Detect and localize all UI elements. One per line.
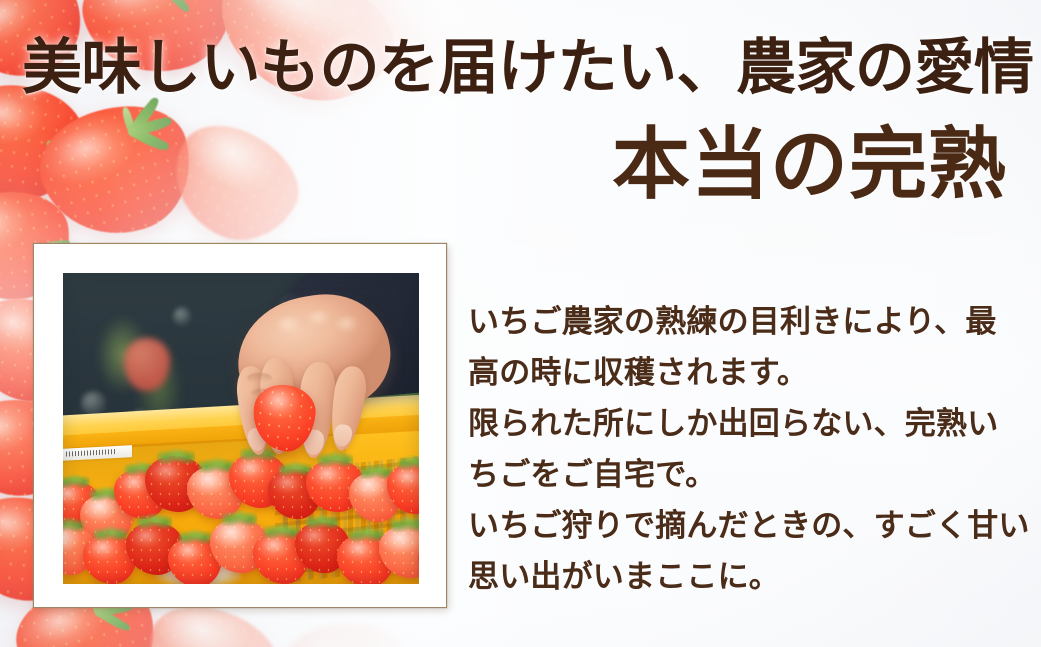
body-line: 思い出がいまここに。 [468,551,1028,602]
promo-poster: 美味しいものを届けたい、農家の愛情 本当の完熟 [0,0,1041,647]
photo-frame [33,243,447,608]
fingernail [332,423,353,448]
body-line: ちごをご自宅で。 [468,449,1028,500]
knuckle [305,310,336,333]
skin-crease [247,373,272,383]
body-line: 限られた所にしか出回らない、完熟い [468,398,1028,449]
strawberry-decor [275,614,414,647]
harvest-photo [63,273,419,584]
page-subheadline: 本当の完熟 [612,126,1007,204]
body-line: いちご狩りで摘んだときの、すごく甘い [468,500,1028,551]
photo-bokeh [173,307,191,326]
farmers-hand [191,289,397,482]
body-copy: いちご農家の熟練の目利きにより、最 高の時に収穫されます。 限られた所にしか出回… [468,296,1028,602]
body-line: 高の時に収穫されます。 [468,347,1028,398]
knuckle [274,316,307,341]
body-line: いちご農家の熟練の目利きにより、最 [468,296,1028,347]
photo-background-berry [124,338,170,391]
page-headline: 美味しいものを届けたい、農家の愛情 [22,38,1012,98]
knuckle [334,316,363,339]
